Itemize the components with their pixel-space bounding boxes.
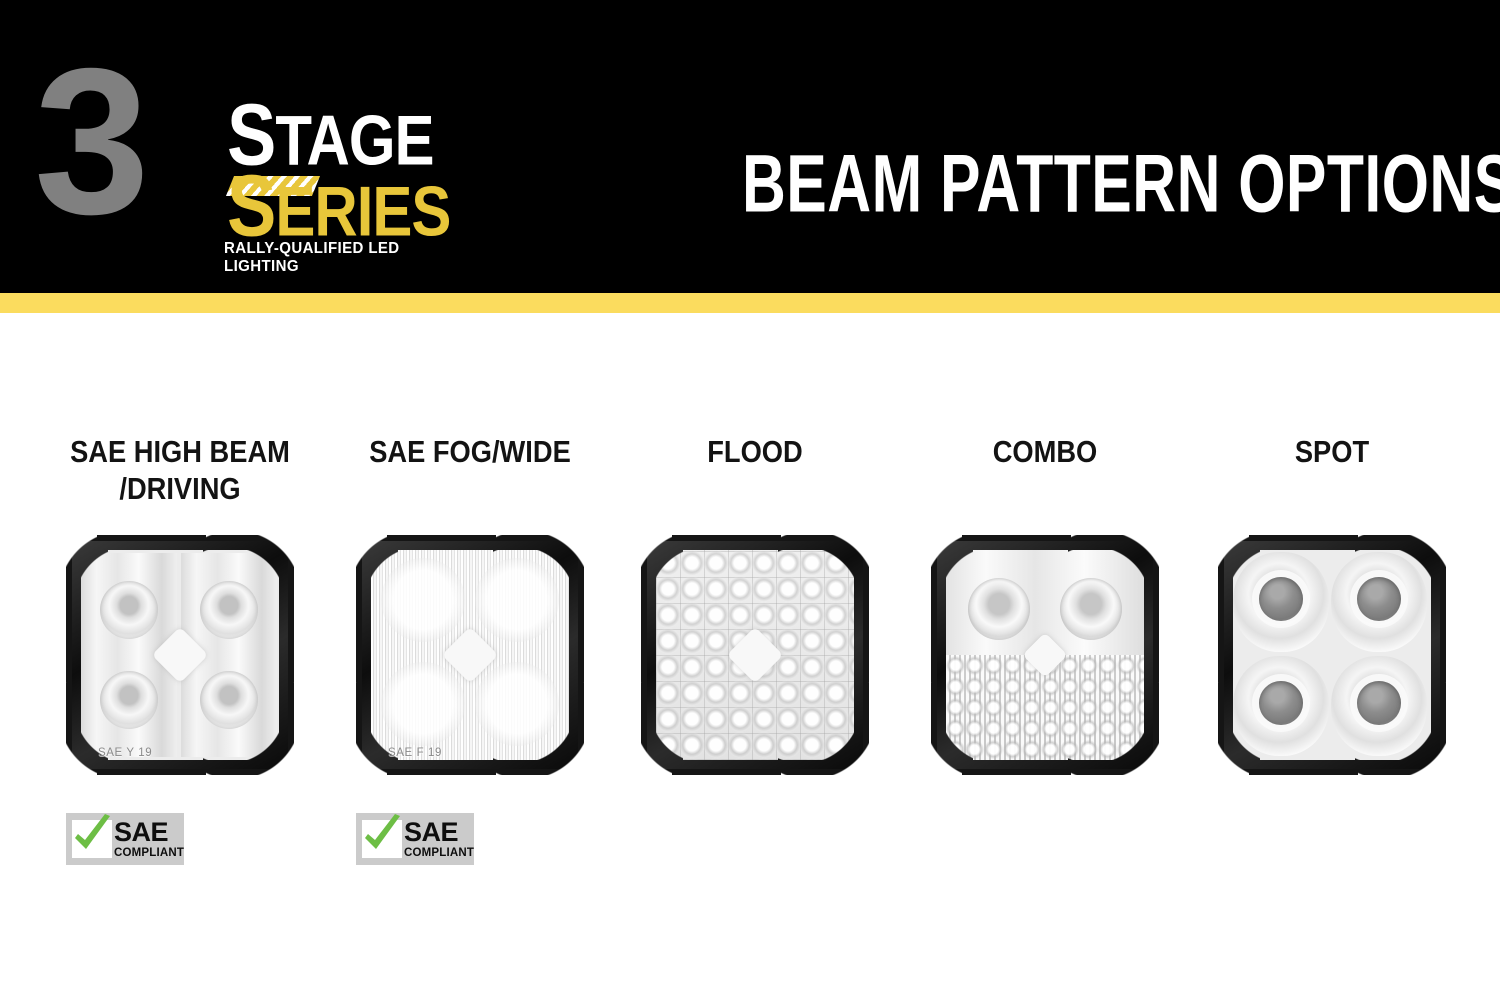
lens-reflector bbox=[1060, 578, 1122, 640]
green-check-icon bbox=[69, 813, 115, 861]
lens-optic-face bbox=[946, 550, 1144, 760]
lens-diffuse-blob bbox=[475, 662, 559, 746]
beam-option-combo[interactable]: COMBO bbox=[905, 313, 1185, 1000]
lens-image-fog-wide: SAE F 19 bbox=[356, 535, 584, 775]
lens-spot-optic bbox=[1331, 552, 1427, 652]
lens-optic-face bbox=[1233, 550, 1431, 760]
lens-diffuse-blob bbox=[475, 558, 559, 642]
lens-image-flood bbox=[641, 535, 869, 775]
green-check-icon bbox=[359, 813, 405, 861]
sae-check-box bbox=[362, 820, 402, 858]
beam-option-label: SAE HIGH BEAM /DRIVING bbox=[57, 433, 303, 507]
sae-compliant-badge: SAE COMPLIANT bbox=[66, 813, 184, 865]
sae-badge-text: SAE COMPLIANT bbox=[404, 819, 474, 860]
logo-numeral-3: 3 bbox=[34, 42, 144, 242]
sae-badge-main-label: SAE bbox=[404, 819, 474, 846]
sae-badge-text: SAE COMPLIANT bbox=[114, 819, 184, 860]
beam-option-spot[interactable]: SPOT bbox=[1192, 313, 1472, 1000]
brand-logo: 3 STAGE SERIES RALLY-QUALIFIED LED LIGHT… bbox=[34, 42, 454, 242]
lens-reflector bbox=[100, 671, 158, 729]
lens-optic-face bbox=[81, 550, 279, 760]
lens-reflector bbox=[200, 671, 258, 729]
lens-reflector bbox=[200, 581, 258, 639]
beam-option-label-line1: SPOT bbox=[1209, 433, 1455, 470]
yellow-divider bbox=[0, 293, 1500, 313]
sae-badge-sub-label: COMPLIANT bbox=[404, 848, 474, 860]
lens-reflector bbox=[100, 581, 158, 639]
beam-option-sae-fog-wide[interactable]: SAE FOG/WIDE SAE F 19 SAE COMPL bbox=[330, 313, 610, 1000]
logo-tagline: RALLY-QUALIFIED LED LIGHTING bbox=[224, 240, 447, 276]
logo-word-series: SERIES bbox=[227, 173, 450, 245]
sae-badge-main-label: SAE bbox=[114, 819, 184, 846]
lens-reflector bbox=[968, 578, 1030, 640]
beam-option-label: FLOOD bbox=[632, 433, 878, 470]
lens-spot-optic bbox=[1331, 656, 1427, 756]
lens-diffuse-blob bbox=[381, 558, 465, 642]
lens-optic-face bbox=[371, 550, 569, 760]
lens-diffuse-blob bbox=[381, 662, 465, 746]
lens-marking-text: SAE F 19 bbox=[388, 747, 442, 759]
beam-option-label: SAE FOG/WIDE bbox=[347, 433, 593, 470]
sae-badge-sub-label: COMPLIANT bbox=[114, 848, 184, 860]
sae-compliant-badge: SAE COMPLIANT bbox=[356, 813, 474, 865]
sae-check-box bbox=[72, 820, 112, 858]
beam-option-label: COMBO bbox=[922, 433, 1168, 470]
lens-image-spot bbox=[1218, 535, 1446, 775]
logo-stage-rest: TAGE bbox=[275, 101, 433, 180]
beam-option-label-line1: FLOOD bbox=[632, 433, 878, 470]
lens-image-combo bbox=[931, 535, 1159, 775]
beam-pattern-grid: SAE HIGH BEAM /DRIVING SAE Y 19 bbox=[0, 313, 1500, 1000]
lens-optic-face bbox=[656, 550, 854, 760]
lens-image-high-beam: SAE Y 19 bbox=[66, 535, 294, 775]
lens-spot-pupil bbox=[1259, 681, 1303, 725]
beam-option-flood[interactable]: FLOOD bbox=[615, 313, 895, 1000]
beam-option-sae-high-beam-driving[interactable]: SAE HIGH BEAM /DRIVING SAE Y 19 bbox=[40, 313, 320, 1000]
lens-spot-pupil bbox=[1259, 577, 1303, 621]
beam-option-label: SPOT bbox=[1209, 433, 1455, 470]
lens-spot-pupil bbox=[1357, 577, 1401, 621]
lens-spot-pupil bbox=[1357, 681, 1401, 725]
beam-option-label-line1: COMBO bbox=[922, 433, 1168, 470]
lens-spot-optic bbox=[1233, 552, 1329, 652]
lens-spot-optic bbox=[1233, 656, 1329, 756]
beam-option-label-line1: SAE HIGH BEAM bbox=[57, 433, 303, 470]
beam-option-label-line2: /DRIVING bbox=[57, 470, 303, 507]
beam-option-label-line1: SAE FOG/WIDE bbox=[347, 433, 593, 470]
lens-marking-text: SAE Y 19 bbox=[98, 747, 152, 759]
page-title: BEAM PATTERN OPTIONS bbox=[742, 142, 1500, 224]
header-bar: 3 STAGE SERIES RALLY-QUALIFIED LED LIGHT… bbox=[0, 0, 1500, 293]
